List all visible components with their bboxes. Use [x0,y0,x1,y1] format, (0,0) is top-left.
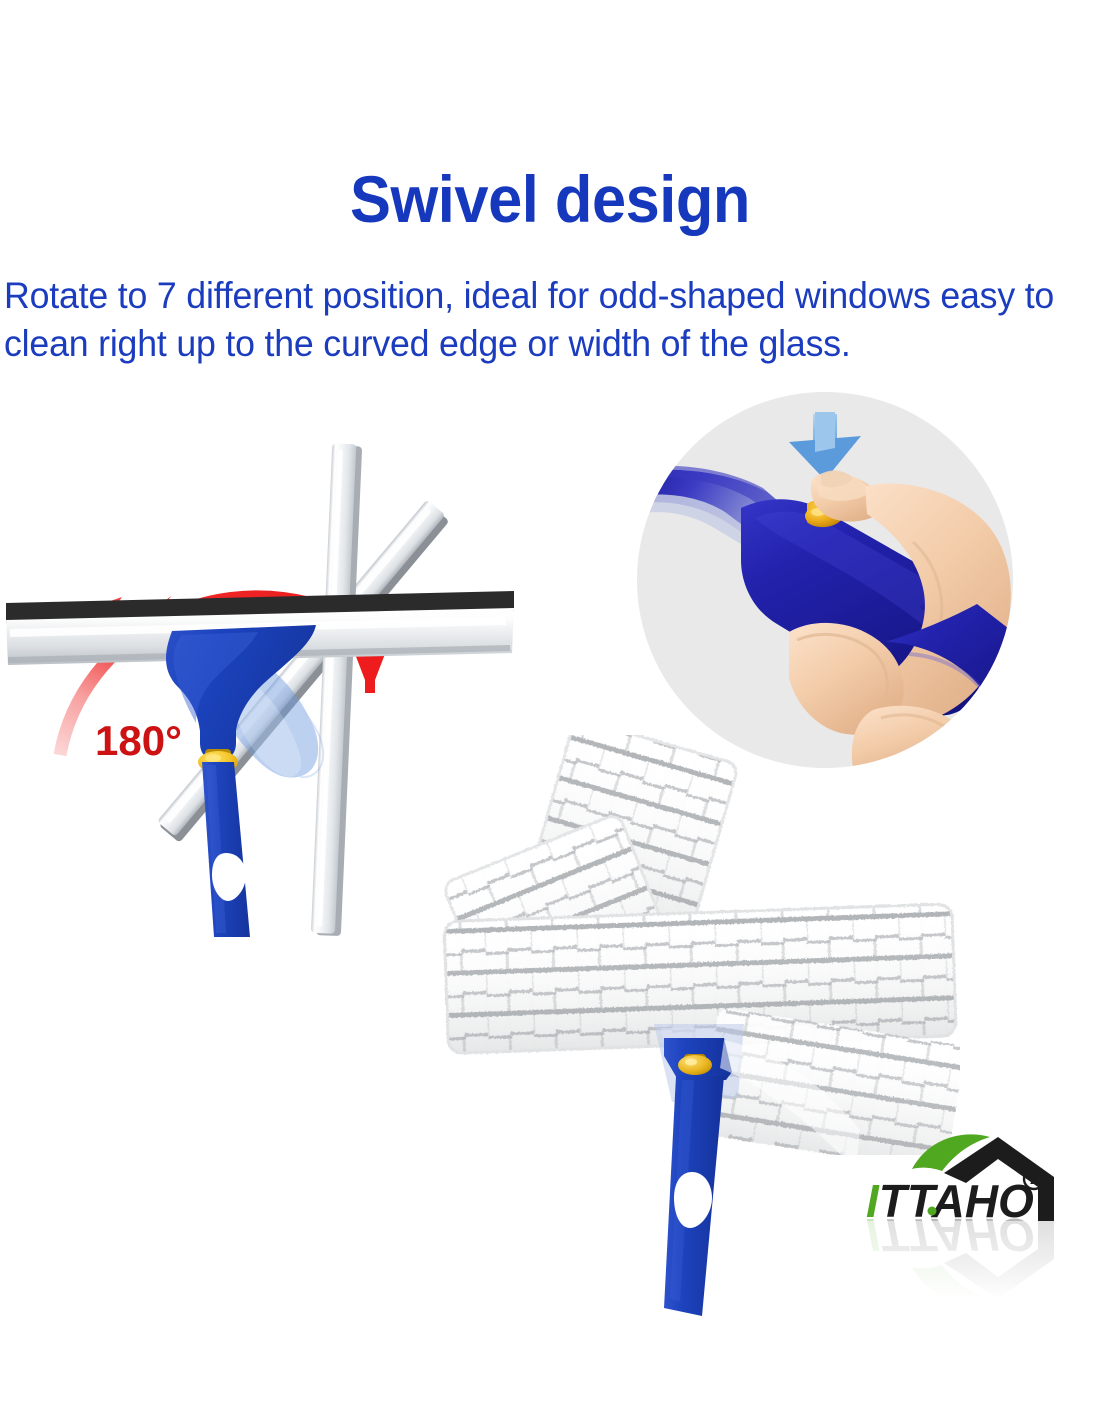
feature-description: Rotate to 7 different position, ideal fo… [4,272,1062,368]
hand-pressing-button-inset [637,392,1013,768]
squeegee-blade-vertical-icon [311,443,362,936]
page-title: Swivel design [39,166,1062,232]
product-feature-image: Swivel design Rotate to 7 different posi… [0,0,1100,1422]
rotation-angle-label: 180° [95,717,182,764]
squeegee-with-pad [620,1020,880,1320]
brand-logo: R ITTAHO ITTAHO [858,1125,1096,1300]
